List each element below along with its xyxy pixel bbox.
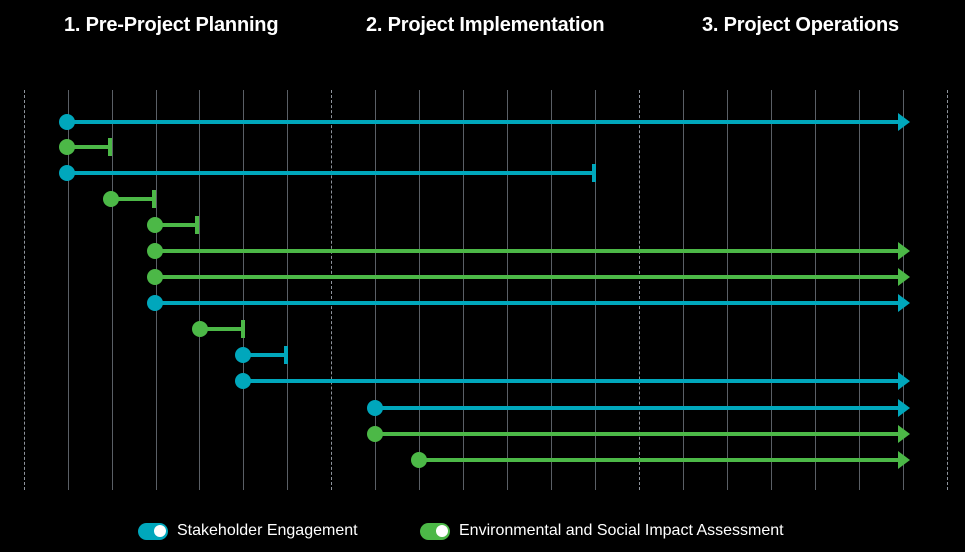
task-bar-line [67,171,594,175]
phase-divider-line [947,90,948,490]
task-end-arrow [898,242,910,260]
timeline-plot-area [0,90,965,490]
task-start-dot [192,321,208,337]
legend: Stakeholder Engagement Environmental and… [0,522,965,552]
task-start-dot [147,269,163,285]
task-end-cap [241,320,245,338]
legend-item-stakeholder-engagement[interactable]: Stakeholder Engagement [138,522,358,540]
legend-label-stakeholder-engagement: Stakeholder Engagement [177,522,358,540]
task-bar[interactable] [367,423,918,445]
task-end-cap [108,138,112,156]
task-bar[interactable] [235,344,296,366]
task-bar-line [375,432,900,436]
task-end-arrow [898,372,910,390]
task-bar[interactable] [103,188,164,210]
phase-header-project-operations: 3. Project Operations [702,14,899,37]
phase-divider-line [331,90,332,490]
task-bar[interactable] [147,266,918,288]
gridline [287,90,288,490]
task-start-dot [147,295,163,311]
task-bar[interactable] [59,111,918,133]
task-end-arrow [898,451,910,469]
phase-divider-line [24,90,25,490]
task-bar[interactable] [59,136,120,158]
task-start-dot [59,114,75,130]
task-bar[interactable] [59,162,604,184]
task-start-dot [147,217,163,233]
legend-label-esia: Environmental and Social Impact Assessme… [459,522,784,540]
task-start-dot [235,373,251,389]
task-end-cap [284,346,288,364]
task-bar[interactable] [147,292,918,314]
task-bar-line [419,458,900,462]
task-start-dot [103,191,119,207]
phase-header-project-implementation: 2. Project Implementation [366,14,604,37]
task-bar-line [155,301,900,305]
task-bar[interactable] [411,449,918,471]
toggle-pill-icon [138,523,168,540]
task-end-arrow [898,268,910,286]
gridline [199,90,200,490]
task-start-dot [235,347,251,363]
task-bar-line [67,120,900,124]
task-end-cap [592,164,596,182]
task-bar-line [155,275,900,279]
gantt-chart-root: 1. Pre-Project Planning 2. Project Imple… [0,0,965,552]
task-bar[interactable] [147,240,918,262]
legend-item-esia[interactable]: Environmental and Social Impact Assessme… [420,522,784,540]
task-bar-line [375,406,900,410]
task-bar[interactable] [367,397,918,419]
task-start-dot [59,139,75,155]
task-start-dot [367,400,383,416]
toggle-pill-icon [420,523,450,540]
task-end-cap [195,216,199,234]
gridline [243,90,244,490]
task-bar[interactable] [147,214,207,236]
phase-header-pre-project-planning: 1. Pre-Project Planning [64,14,278,37]
task-bar[interactable] [192,318,253,340]
task-bar-line [243,379,900,383]
task-end-arrow [898,425,910,443]
task-start-dot [59,165,75,181]
gridline [156,90,157,490]
task-end-arrow [898,399,910,417]
task-start-dot [147,243,163,259]
task-start-dot [367,426,383,442]
task-end-arrow [898,113,910,131]
task-end-arrow [898,294,910,312]
task-bar[interactable] [235,370,918,392]
task-start-dot [411,452,427,468]
task-end-cap [152,190,156,208]
task-bar-line [155,249,900,253]
